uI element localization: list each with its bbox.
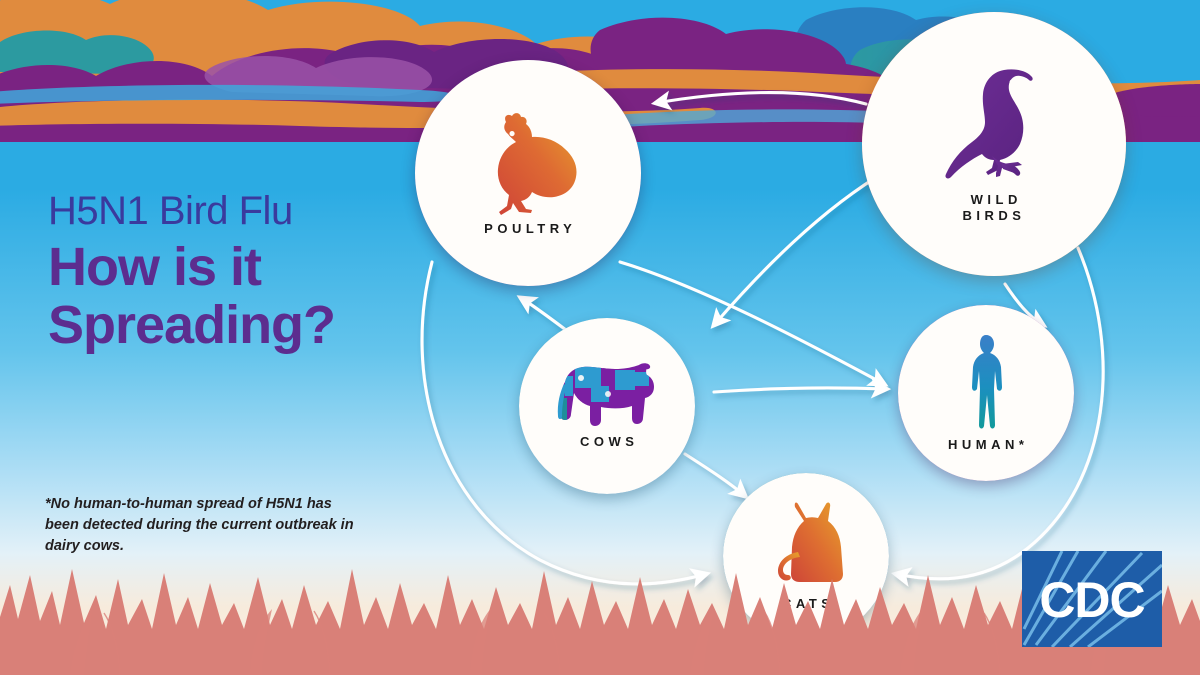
node-cows[interactable]: COWS [519, 318, 695, 494]
node-human-label: HUMAN* [944, 437, 1029, 453]
cow-icon [553, 362, 661, 434]
grass-band [0, 525, 1200, 675]
page-title-line-2: Spreading? [48, 296, 448, 354]
chicken-icon [468, 109, 588, 221]
node-wild-birds[interactable]: WILDBIRDS [862, 12, 1126, 276]
node-poultry-label: POULTRY [480, 221, 577, 237]
infographic-canvas: POULTRY WILDBIRDS [0, 0, 1200, 675]
node-poultry[interactable]: POULTRY [415, 60, 641, 286]
human-figure-icon [959, 333, 1013, 437]
node-cows-label: COWS [576, 434, 639, 450]
cdc-logo-text: CDC [1039, 572, 1144, 628]
node-human[interactable]: HUMAN* [898, 305, 1074, 481]
node-wild-birds-label: WILDBIRDS [963, 192, 1026, 225]
arrow-wildbirds-to-poultry [656, 93, 866, 104]
arrow-cows-to-poultry [521, 298, 566, 330]
arrow-cows-to-cats [685, 454, 745, 496]
cdc-logo[interactable]: CDC [1022, 551, 1162, 647]
page-title-line-1: How is it [48, 238, 448, 296]
page-title: How is it Spreading? [48, 238, 448, 355]
page-eyebrow: H5N1 Bird Flu [48, 190, 448, 232]
arrow-wildbirds-to-cows [714, 170, 888, 325]
wild-bird-icon [930, 64, 1058, 192]
title-block: H5N1 Bird Flu How is it Spreading? [48, 190, 448, 355]
arrow-cows-to-human [714, 388, 886, 392]
